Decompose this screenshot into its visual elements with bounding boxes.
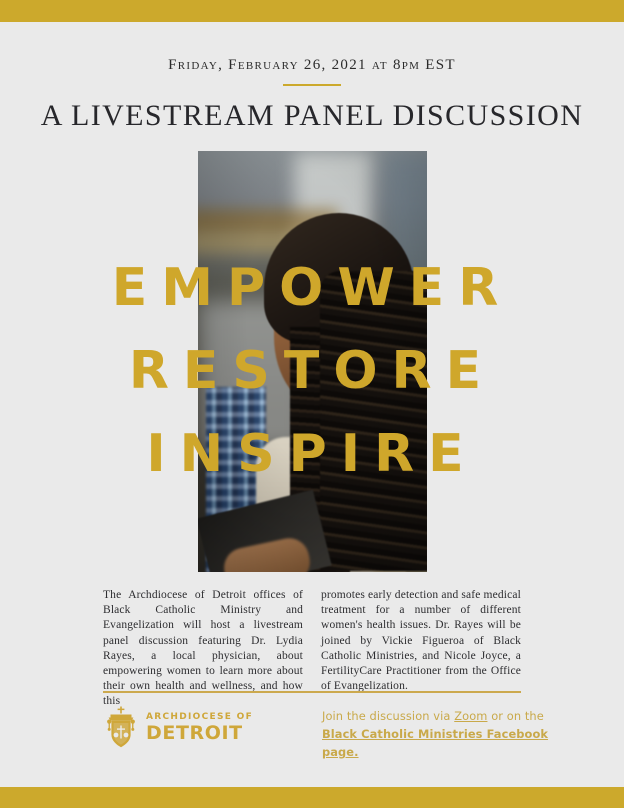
cta-text-mid: or on the [487,709,543,723]
hero-word-inspire: INSPIRE [0,428,624,480]
footer-divider-rule [103,691,521,693]
logo-line-2: DETROIT [146,724,253,743]
archdiocese-logo-text: ARCHDIOCESE OF DETROIT [146,713,253,743]
hero-word-restore: RESTORE [0,345,624,397]
cta-text-pre: Join the discussion via [322,709,454,723]
flyer-page: Friday, February 26, 2021 at 8pm EST A L… [0,0,624,808]
archdiocese-logo: ARCHDIOCESE OF DETROIT [103,706,253,750]
zoom-link[interactable]: Zoom [454,709,487,723]
call-to-action: Join the discussion via Zoom or on the B… [322,707,552,761]
header-divider-rule [283,84,341,86]
logo-line-1: ARCHDIOCESE OF [146,713,253,722]
archdiocese-crest-icon [103,706,139,750]
page-title: A LIVESTREAM PANEL DISCUSSION [0,99,624,133]
event-date-line: Friday, February 26, 2021 at 8pm EST [0,57,624,74]
top-gold-bar [0,0,624,22]
bottom-gold-bar [0,787,624,808]
facebook-page-link[interactable]: Black Catholic Ministries Facebook page. [322,727,548,759]
hero-word-empower: EMPOWER [0,262,624,314]
